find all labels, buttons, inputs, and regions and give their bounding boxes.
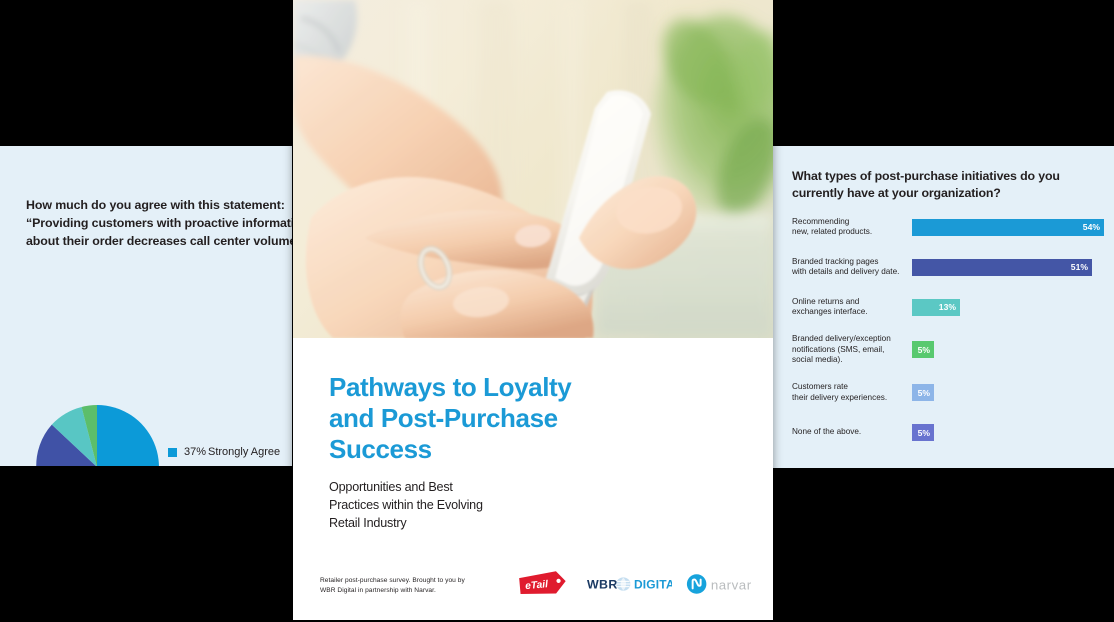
bar-row-branded-notifications: Branded delivery/exception notifications…: [792, 334, 1112, 366]
bar-label-line: Customers rate: [792, 382, 912, 393]
svg-text:WBR: WBR: [587, 577, 618, 591]
bar-fill-customers-rate-delivery: 5%: [912, 384, 934, 401]
bar-track: 5%: [912, 384, 1112, 401]
etail-logo: eTail: [518, 568, 569, 600]
bar-label-line: Recommending: [792, 217, 912, 228]
bar-track: 13%: [912, 299, 1112, 316]
bar-row-branded-tracking-pages: Branded tracking pages with details and …: [792, 254, 1112, 280]
cover-footnote: Retailer post-purchase survey. Brought t…: [320, 576, 550, 595]
bar-label-line: their delivery experiences.: [792, 393, 912, 404]
bar-label-line: social media).: [792, 355, 912, 366]
bar-chart-question: What types of post-purchase initiatives …: [792, 168, 1097, 202]
left-slide-panel[interactable]: How much do you agree with this statemen…: [0, 146, 292, 466]
bar-label-line: notifications (SMS, email,: [792, 345, 912, 356]
legend-item-strongly-agree: 37% Strongly Agree: [168, 441, 292, 463]
bar-value-online-returns: 13%: [939, 302, 956, 312]
logo-strip: eTail WBR DIGITAL nar: [518, 566, 768, 602]
svg-text:narvar: narvar: [711, 577, 752, 592]
bar-value-none-of-the-above: 5%: [918, 428, 930, 438]
bar-value-branded-notifications: 5%: [918, 345, 930, 355]
bar-track: 54%: [912, 219, 1112, 236]
bar-label-online-returns: Online returns and exchanges interface.: [792, 297, 912, 318]
bar-label-line: Branded delivery/exception: [792, 334, 912, 345]
bar-value-branded-tracking-pages: 51%: [1071, 262, 1088, 272]
bar-label-recommending-products: Recommending new, related products.: [792, 217, 912, 238]
bar-label-line: with details and delivery date.: [792, 267, 912, 278]
legend-item-agree: 50% Agree: [168, 463, 292, 466]
slide-collage: How much do you agree with this statemen…: [0, 0, 1114, 622]
cover-title-line-3: Success: [329, 434, 659, 465]
bar-label-line: Branded tracking pages: [792, 257, 912, 268]
cover-subtitle-line-1: Opportunities and Best: [329, 478, 629, 496]
cover-photo: [293, 0, 773, 338]
bar-fill-branded-notifications: 5%: [912, 341, 934, 358]
cover-subtitle-line-3: Retail Industry: [329, 514, 629, 532]
bar-label-line: exchanges interface.: [792, 307, 912, 318]
pie-question-line-3: about their order decreases call center …: [26, 232, 292, 250]
pie-chart-question: How much do you agree with this statemen…: [26, 196, 292, 250]
bar-row-recommending-products: Recommending new, related products. 54%: [792, 214, 1112, 240]
bar-label-branded-tracking-pages: Branded tracking pages with details and …: [792, 257, 912, 278]
bar-label-branded-notifications: Branded delivery/exception notifications…: [792, 334, 912, 366]
bar-label-line: None of the above.: [792, 427, 912, 438]
cover-slide-panel[interactable]: Pathways to Loyalty and Post-Purchase Su…: [293, 0, 773, 620]
cover-title-line-1: Pathways to Loyalty: [329, 372, 659, 403]
bar-fill-recommending-products: 54%: [912, 219, 1104, 236]
cover-title-line-2: and Post-Purchase: [329, 403, 659, 434]
bar-label-customers-rate-delivery: Customers rate their delivery experience…: [792, 382, 912, 403]
legend-percent-strongly-agree: 37%: [184, 446, 208, 458]
hands-holding-smartphone-photo: [293, 0, 773, 338]
narvar-logo: narvar: [686, 572, 768, 596]
pie-chart-svg: [33, 403, 161, 466]
bar-label-line: new, related products.: [792, 227, 912, 238]
bar-track: 51%: [912, 259, 1112, 276]
pie-chart-legend: 37% Strongly Agree 50% Agree 9% Neutral …: [168, 441, 292, 466]
narvar-logo-icon: narvar: [686, 572, 768, 596]
bar-fill-online-returns: 13%: [912, 299, 960, 316]
cover-subtitle-line-2: Practices within the Evolving: [329, 496, 629, 514]
bar-question-line-2: currently have at your organization?: [792, 186, 1001, 200]
etail-logo-icon: eTail: [518, 568, 569, 600]
cover-title: Pathways to Loyalty and Post-Purchase Su…: [329, 372, 659, 465]
bar-question-line-1: What types of post-purchase initiatives …: [792, 169, 1060, 183]
svg-text:DIGITAL: DIGITAL: [634, 577, 672, 591]
cover-subtitle: Opportunities and Best Practices within …: [329, 478, 629, 532]
bar-track: 5%: [912, 341, 1112, 358]
bar-fill-none-of-the-above: 5%: [912, 424, 934, 441]
legend-swatch-icon-strongly-agree: [168, 448, 177, 457]
legend-label-strongly-agree: Strongly Agree: [208, 446, 280, 458]
cover-footnote-line-2: WBR Digital in partnership with Narvar.: [320, 586, 550, 596]
pie-slice-strongly-agree: [97, 405, 159, 466]
bar-track: 5%: [912, 424, 1112, 441]
bar-value-customers-rate-delivery: 5%: [918, 388, 930, 398]
bar-row-customers-rate-delivery: Customers rate their delivery experience…: [792, 380, 1112, 406]
cover-footnote-line-1: Retailer post-purchase survey. Brought t…: [320, 576, 550, 586]
bar-label-none-of-the-above: None of the above.: [792, 427, 912, 438]
wbr-digital-logo-icon: WBR DIGITAL: [587, 573, 672, 595]
right-slide-panel[interactable]: What types of post-purchase initiatives …: [772, 146, 1114, 468]
wbr-digital-logo: WBR DIGITAL: [587, 573, 672, 595]
svg-text:eTail: eTail: [525, 579, 549, 592]
pie-question-line-2: “Providing customers with proactive info…: [26, 214, 292, 232]
bar-fill-branded-tracking-pages: 51%: [912, 259, 1092, 276]
pie-chart: [33, 403, 161, 466]
bar-row-online-returns: Online returns and exchanges interface. …: [792, 294, 1112, 320]
bar-value-recommending-products: 54%: [1083, 222, 1100, 232]
pie-question-line-1: How much do you agree with this statemen…: [26, 196, 292, 214]
bar-row-none-of-the-above: None of the above. 5%: [792, 420, 1112, 446]
bar-label-line: Online returns and: [792, 297, 912, 308]
bar-chart: Recommending new, related products. 54% …: [792, 214, 1112, 460]
